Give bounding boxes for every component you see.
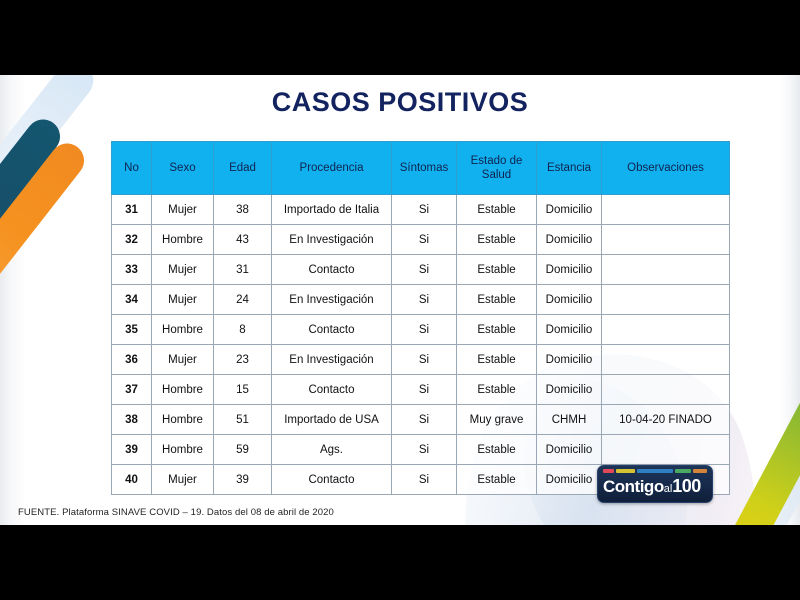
column-header-observaciones: Observaciones <box>602 142 730 195</box>
source-note: FUENTE. Plataforma SINAVE COVID – 19. Da… <box>18 507 334 518</box>
cell-sexo: Mujer <box>152 285 214 315</box>
cell-edad: 15 <box>214 375 272 405</box>
cell-estado: Muy grave <box>457 405 537 435</box>
cell-edad: 8 <box>214 315 272 345</box>
table-row: 34Mujer24En InvestigaciónSiEstableDomici… <box>112 285 730 315</box>
cell-sexo: Mujer <box>152 195 214 225</box>
logo-color-bars <box>598 466 712 474</box>
cell-no: 37 <box>112 375 152 405</box>
cell-observaciones <box>602 225 730 255</box>
cell-estancia: Domicilio <box>537 375 602 405</box>
column-header-edad: Edad <box>214 142 272 195</box>
cell-estancia: Domicilio <box>537 315 602 345</box>
positive-cases-table: No Sexo Edad Procedencia Síntomas Estado… <box>111 141 730 495</box>
cell-estado: Estable <box>457 315 537 345</box>
cell-sexo: Hombre <box>152 315 214 345</box>
cell-procedencia: En Investigación <box>272 345 392 375</box>
column-header-sintomas: Síntomas <box>392 142 457 195</box>
cell-procedencia: Importado de Italia <box>272 195 392 225</box>
cell-procedencia: Contacto <box>272 315 392 345</box>
cell-procedencia: Contacto <box>272 465 392 495</box>
logo-wordmark: Contigoal100 <box>598 474 712 502</box>
cell-estancia: CHMH <box>537 405 602 435</box>
contigo-al-100-logo: Contigoal100 <box>597 465 713 503</box>
table-row: 31Mujer38Importado de ItaliaSiEstableDom… <box>112 195 730 225</box>
cell-estado: Estable <box>457 195 537 225</box>
logo-bar-blue <box>637 469 673 473</box>
cell-no: 34 <box>112 285 152 315</box>
cell-estado: Estable <box>457 435 537 465</box>
cell-sintomas: Si <box>392 435 457 465</box>
cell-edad: 23 <box>214 345 272 375</box>
logo-bar-green <box>675 469 691 473</box>
cell-procedencia: En Investigación <box>272 285 392 315</box>
cell-sintomas: Si <box>392 375 457 405</box>
cell-observaciones <box>602 255 730 285</box>
cell-estancia: Domicilio <box>537 225 602 255</box>
cell-procedencia: Contacto <box>272 375 392 405</box>
cell-sexo: Hombre <box>152 405 214 435</box>
cell-estado: Estable <box>457 285 537 315</box>
cell-estado: Estable <box>457 345 537 375</box>
logo-bar-red <box>603 469 614 473</box>
table-row: 36Mujer23En InvestigaciónSiEstableDomici… <box>112 345 730 375</box>
column-header-no: No <box>112 142 152 195</box>
cell-no: 39 <box>112 435 152 465</box>
cell-no: 40 <box>112 465 152 495</box>
cell-estancia: Domicilio <box>537 195 602 225</box>
cell-no: 32 <box>112 225 152 255</box>
cell-procedencia: Ags. <box>272 435 392 465</box>
table-row: 35Hombre8ContactoSiEstableDomicilio <box>112 315 730 345</box>
cell-edad: 59 <box>214 435 272 465</box>
logo-bar-yellow <box>616 469 635 473</box>
table-row: 39Hombre59Ags.SiEstableDomicilio <box>112 435 730 465</box>
table-row: 33Mujer31ContactoSiEstableDomicilio <box>112 255 730 285</box>
table-header-row: No Sexo Edad Procedencia Síntomas Estado… <box>112 142 730 195</box>
cell-no: 38 <box>112 405 152 435</box>
cell-estado: Estable <box>457 375 537 405</box>
cell-sexo: Mujer <box>152 255 214 285</box>
cell-estado: Estable <box>457 255 537 285</box>
cell-sexo: Mujer <box>152 465 214 495</box>
cell-no: 35 <box>112 315 152 345</box>
logo-word-al: al <box>664 483 673 495</box>
cell-estancia: Domicilio <box>537 465 602 495</box>
cell-estado: Estable <box>457 465 537 495</box>
cell-observaciones <box>602 195 730 225</box>
cell-observaciones <box>602 435 730 465</box>
cell-sintomas: Si <box>392 255 457 285</box>
column-header-estado-salud: Estado de Salud <box>457 142 537 195</box>
logo-word-100: 100 <box>672 476 701 496</box>
page-title: CASOS POSITIVOS <box>0 87 800 118</box>
cell-sintomas: Si <box>392 195 457 225</box>
cell-edad: 38 <box>214 195 272 225</box>
cell-edad: 51 <box>214 405 272 435</box>
cell-sintomas: Si <box>392 315 457 345</box>
column-header-sexo: Sexo <box>152 142 214 195</box>
cell-observaciones <box>602 375 730 405</box>
cell-edad: 24 <box>214 285 272 315</box>
cell-estancia: Domicilio <box>537 285 602 315</box>
cell-edad: 43 <box>214 225 272 255</box>
cell-no: 33 <box>112 255 152 285</box>
column-header-estancia: Estancia <box>537 142 602 195</box>
cell-observaciones <box>602 315 730 345</box>
cell-no: 31 <box>112 195 152 225</box>
column-header-procedencia: Procedencia <box>272 142 392 195</box>
cell-observaciones <box>602 285 730 315</box>
cell-observaciones: 10-04-20 FINADO <box>602 405 730 435</box>
table-row: 37Hombre15ContactoSiEstableDomicilio <box>112 375 730 405</box>
table-row: 38Hombre51Importado de USASiMuy graveCHM… <box>112 405 730 435</box>
cell-observaciones <box>602 345 730 375</box>
table-row: 32Hombre43En InvestigaciónSiEstableDomic… <box>112 225 730 255</box>
cell-sintomas: Si <box>392 405 457 435</box>
screenshot-stage: CASOS POSITIVOS No Sexo Edad Procedencia… <box>0 0 800 600</box>
logo-bar-orange <box>693 469 707 473</box>
cell-no: 36 <box>112 345 152 375</box>
cell-edad: 39 <box>214 465 272 495</box>
cell-procedencia: Contacto <box>272 255 392 285</box>
cell-estado: Estable <box>457 225 537 255</box>
cell-sintomas: Si <box>392 345 457 375</box>
cell-sexo: Mujer <box>152 345 214 375</box>
cell-sexo: Hombre <box>152 375 214 405</box>
table-body: 31Mujer38Importado de ItaliaSiEstableDom… <box>112 195 730 495</box>
cell-procedencia: En Investigación <box>272 225 392 255</box>
cell-estancia: Domicilio <box>537 345 602 375</box>
cell-sexo: Hombre <box>152 435 214 465</box>
cell-sintomas: Si <box>392 465 457 495</box>
logo-word-contigo: Contigo <box>603 477 664 496</box>
cell-estancia: Domicilio <box>537 255 602 285</box>
cell-sintomas: Si <box>392 285 457 315</box>
cell-estancia: Domicilio <box>537 435 602 465</box>
cell-sexo: Hombre <box>152 225 214 255</box>
cell-procedencia: Importado de USA <box>272 405 392 435</box>
presentation-slide: CASOS POSITIVOS No Sexo Edad Procedencia… <box>0 75 800 525</box>
cell-sintomas: Si <box>392 225 457 255</box>
cell-edad: 31 <box>214 255 272 285</box>
cases-table-container: No Sexo Edad Procedencia Síntomas Estado… <box>111 141 729 495</box>
